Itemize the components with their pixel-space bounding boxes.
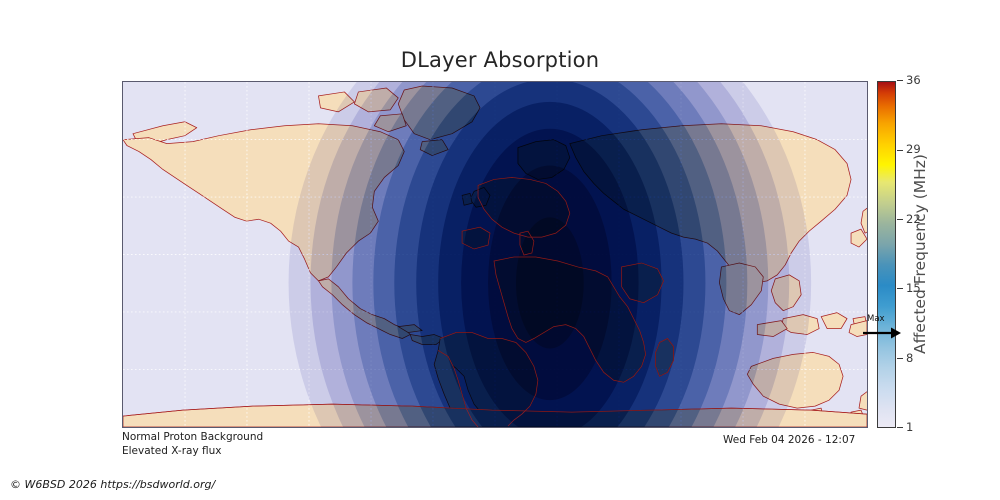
xray-note: Elevated X-ray flux <box>122 444 221 458</box>
colorbar[interactable] <box>877 81 896 428</box>
proton-note: Normal Proton Background <box>122 430 263 444</box>
absorption-contours <box>289 82 812 427</box>
tick-dash <box>897 150 903 151</box>
tick-dash <box>897 219 903 220</box>
copyright-notice: © W6BSD 2026 https://bsdworld.org/ <box>10 478 215 491</box>
tick-dash <box>897 80 903 81</box>
tick-dash <box>897 427 903 428</box>
world-map-svg <box>123 82 867 427</box>
map-canvas <box>123 82 867 427</box>
map-axes[interactable] <box>122 81 868 428</box>
tick-dash <box>897 288 903 289</box>
figure-root: DLayer Absorption <box>0 0 1000 500</box>
tick-dash <box>897 358 903 359</box>
timestamp: Wed Feb 04 2026 - 12:07 <box>723 434 855 446</box>
colorbar-axis-label: Affected Frequency (MHz) <box>905 81 935 428</box>
colorbar-gradient <box>878 82 895 427</box>
page-title: DLayer Absorption <box>0 48 1000 72</box>
